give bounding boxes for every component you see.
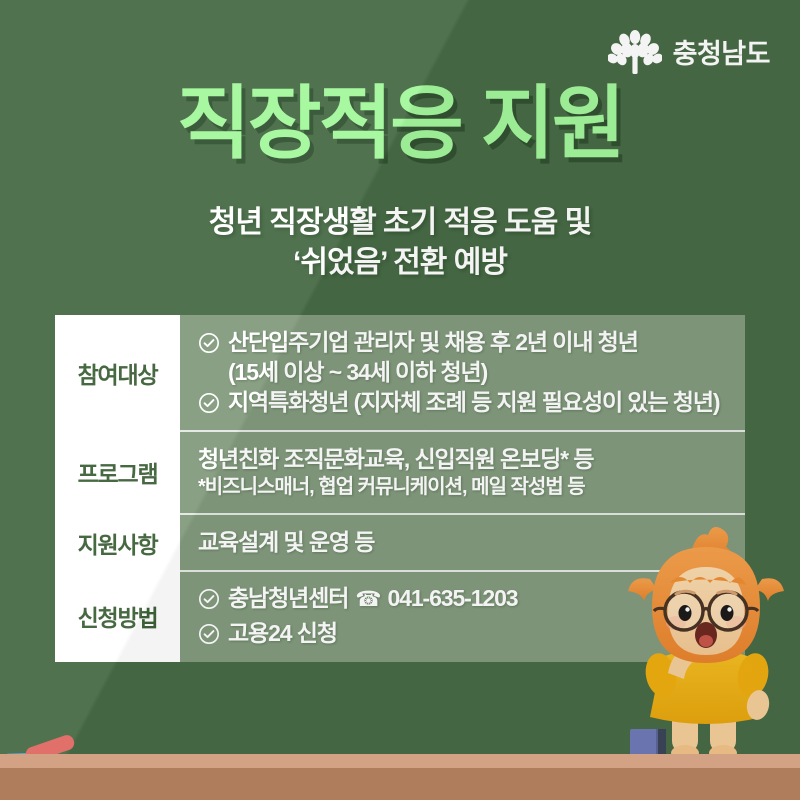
list-item: 산단입주기업 관리자 및 채용 후 2년 이내 청년 <box>198 328 729 358</box>
participants-age-note: (15세 이상 ~ 34세 이하 청년) <box>198 358 729 388</box>
check-circle-icon <box>198 392 220 414</box>
row-label-participants: 참여대상 <box>55 315 180 431</box>
ledge-front-face <box>0 768 800 800</box>
check-circle-icon <box>198 588 220 610</box>
apply-online-label: 고용24 신청 <box>228 619 337 649</box>
row-label-program: 프로그램 <box>55 431 180 515</box>
list-item-label: 지역특화청년 (지자체 조례 등 지원 필요성이 있는 청년) <box>228 388 719 418</box>
org-name: 충청남도 <box>673 32 770 71</box>
subtitle-line-2: ‘쉬었음’ 전환 예방 <box>0 243 800 283</box>
row-body-participants: 산단입주기업 관리자 및 채용 후 2년 이내 청년 (15세 이상 ~ 34세… <box>180 315 745 431</box>
poster-subtitle: 청년 직장생활 초기 적응 도움 및 ‘쉬었음’ 전환 예방 <box>0 203 800 282</box>
apply-center-contact: 충남청년센터 ☎ 041-635-1203 <box>228 584 517 614</box>
telephone-icon: ☎ <box>355 589 380 610</box>
poster-title: 직장적응 지원 <box>0 84 800 164</box>
chalkboard-ledge <box>0 754 800 800</box>
program-line-1: 청년친화 조직문화교육, 신입직원 온보딩* 등 <box>198 444 729 475</box>
ledge-top-surface <box>0 754 800 768</box>
table-row: 프로그램 청년친화 조직문화교육, 신입직원 온보딩* 등 *비즈니스매너, 협… <box>55 431 745 515</box>
poster-canvas: 충청남도 직장적응 지원 청년 직장생활 초기 적응 도움 및 ‘쉬었음’ 전환… <box>0 0 800 800</box>
program-line-2: *비즈니스매너, 협업 커뮤니케이션, 메일 작성법 등 <box>198 474 729 501</box>
mascot-character <box>606 523 800 763</box>
subtitle-line-1: 청년 직장생활 초기 적응 도움 및 <box>0 203 800 243</box>
row-body-program: 청년친화 조직문화교육, 신입직원 온보딩* 등 *비즈니스매너, 협업 커뮤니… <box>180 431 745 515</box>
chungnam-tree-logo-icon <box>608 26 662 76</box>
list-item: 지역특화청년 (지자체 조례 등 지원 필요성이 있는 청년) <box>198 388 729 418</box>
org-logo: 충청남도 <box>608 26 770 76</box>
apply-phone-number: 041-635-1203 <box>387 584 517 614</box>
table-row: 참여대상 산단입주기업 관리자 및 채용 후 2년 이내 청년 (15세 이상 … <box>55 315 745 431</box>
apply-center-name: 충남청년센터 <box>228 584 348 614</box>
row-label-apply: 신청방법 <box>55 571 180 662</box>
check-circle-icon <box>198 623 220 645</box>
list-item-label: 산단입주기업 관리자 및 채용 후 2년 이내 청년 <box>228 328 638 358</box>
row-label-support: 지원사항 <box>55 514 180 571</box>
check-circle-icon <box>198 332 220 354</box>
